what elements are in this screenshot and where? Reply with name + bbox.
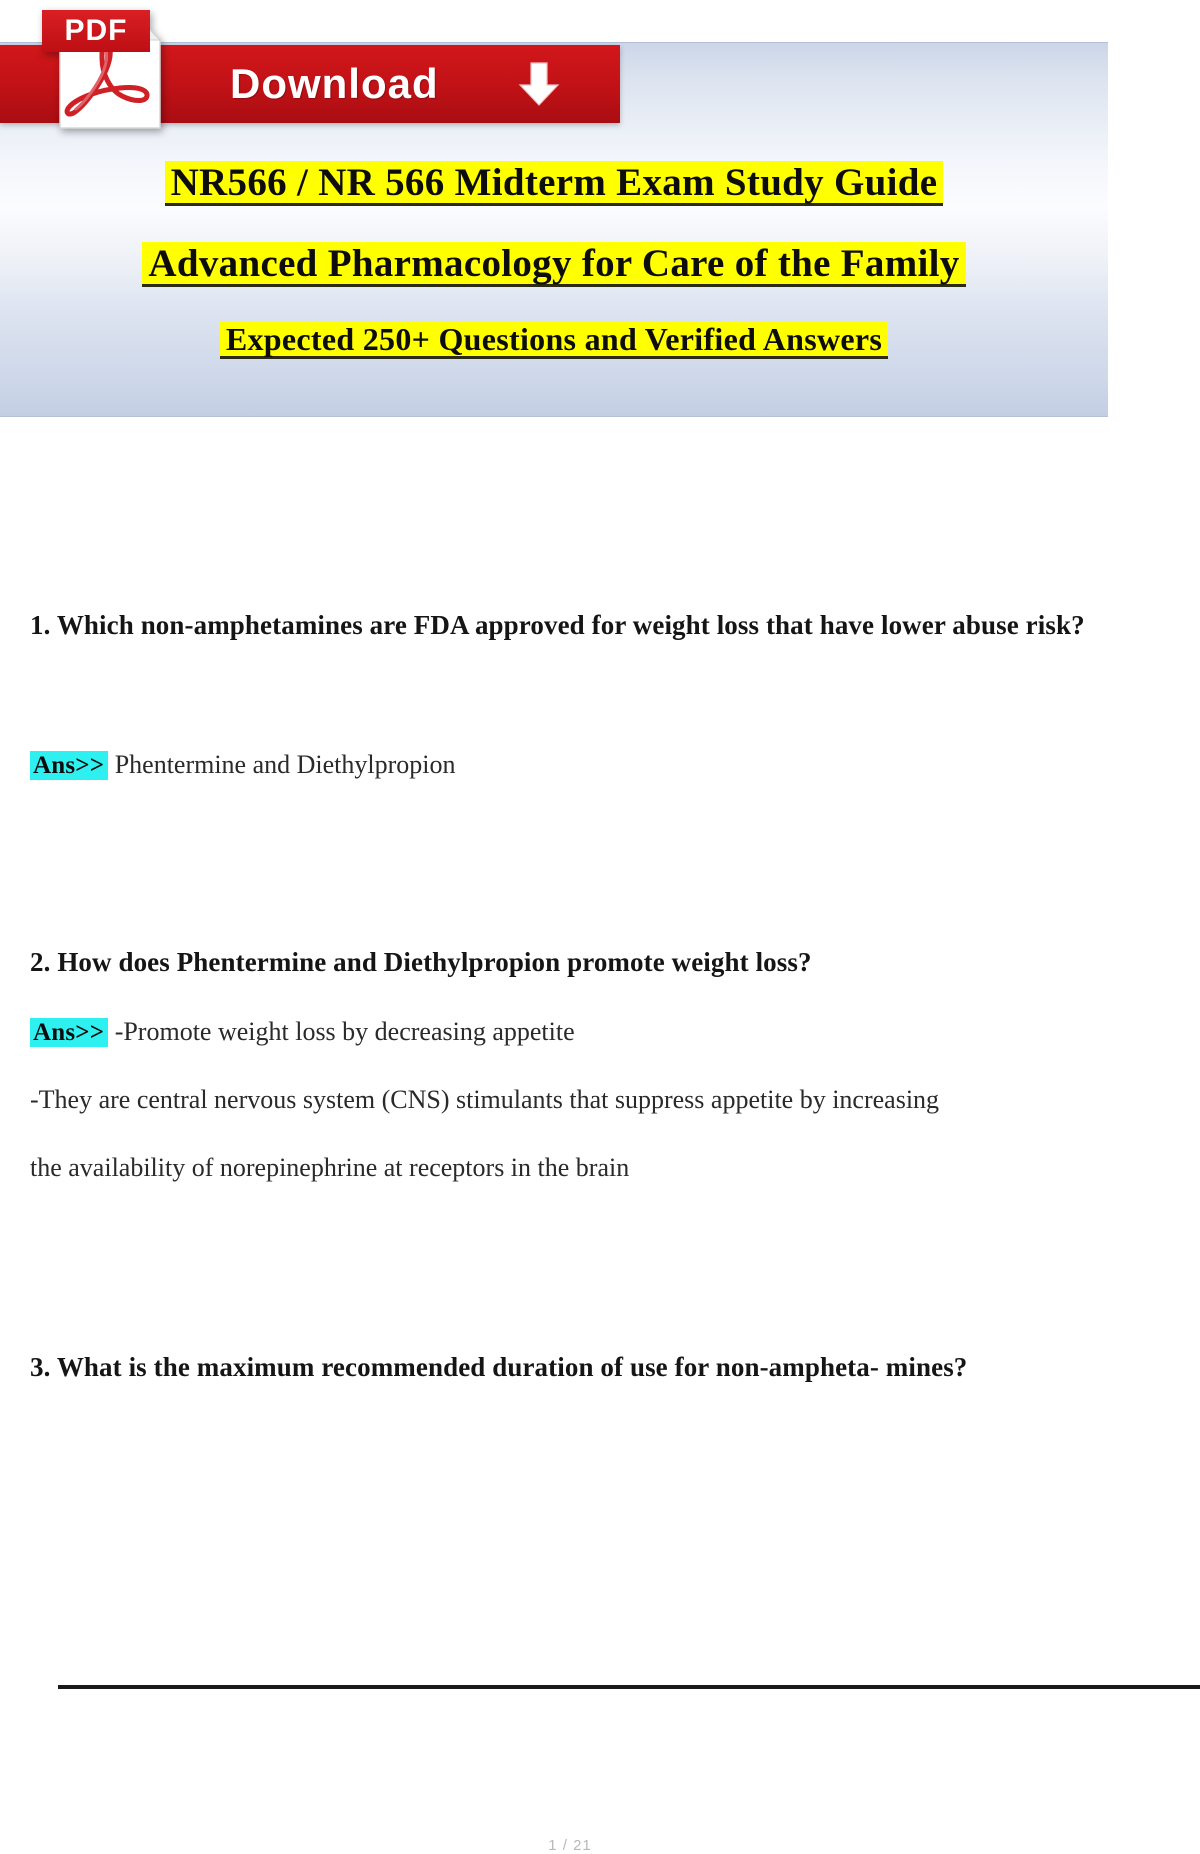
answer-2-continuation-2: the availability of norepinephrine at re… [30,1148,1090,1188]
down-arrow-icon [517,61,561,107]
title-line-2: Advanced Pharmacology for Care of the Fa… [0,242,1108,287]
answer-1-line-1: Ans>> Phentermine and Diethylpropion [30,745,1090,786]
download-button-label: Download [230,60,439,108]
question-1-text: 1. Which non-amphetamines are FDA approv… [30,605,1090,647]
answer-1-text: Phentermine and Diethylpropion [115,750,456,779]
question-2-text: 2. How does Phentermine and Diethylpropi… [30,942,1090,984]
answer-badge: Ans>> [30,1018,108,1047]
title-line-2-text: Advanced Pharmacology for Care of the Fa… [142,242,965,287]
title-stack: NR566 / NR 566 Midterm Exam Study Guide … [0,161,1108,359]
title-line-3: Expected 250+ Questions and Verified Ans… [0,321,1108,359]
answer-item-1: Ans>> Phentermine and Diethylpropion [30,745,1090,786]
answer-item-2: Ans>> -Promote weight loss by decreasing… [30,1012,1090,1053]
page-bottom-divider [58,1685,1200,1689]
answer-2-line-1: Ans>> -Promote weight loss by decreasing… [30,1012,1090,1053]
document-page: NR566 / NR 566 Midterm Exam Study Guide … [0,0,1200,1700]
question-3-body: What is the maximum recommended duration… [57,1352,968,1382]
question-item-1: 1. Which non-amphetamines are FDA approv… [30,605,1090,647]
question-1-body: Which non-amphetamines are FDA approved … [57,610,1085,640]
pdf-file-icon: PDF [42,8,172,132]
title-line-1-text: NR566 / NR 566 Midterm Exam Study Guide [165,161,944,206]
answer-2-text-2: -They are central nervous system (CNS) s… [30,1080,1090,1120]
page-indicator: 1 / 21 [0,1837,1140,1854]
question-3-number: 3. [30,1352,50,1382]
title-line-1: NR566 / NR 566 Midterm Exam Study Guide [0,161,1108,206]
answer-2-continuation-1: -They are central nervous system (CNS) s… [30,1080,1090,1120]
question-1-number: 1. [30,610,50,640]
question-2-number: 2. [30,947,50,977]
title-line-3-text: Expected 250+ Questions and Verified Ans… [220,321,888,359]
answer-2-text-1: -Promote weight loss by decreasing appet… [115,1017,575,1046]
question-2-body: How does Phentermine and Diethylpropion … [57,947,811,977]
answer-badge: Ans>> [30,751,108,780]
question-item-2: 2. How does Phentermine and Diethylpropi… [30,942,1090,984]
document-body: 1. Which non-amphetamines are FDA approv… [0,417,1200,1700]
question-3-text: 3. What is the maximum recommended durat… [30,1347,1090,1389]
question-item-3: 3. What is the maximum recommended durat… [30,1347,1090,1389]
pdf-badge-label: PDF [42,10,150,52]
answer-2-text-3: the availability of norepinephrine at re… [30,1148,1090,1188]
